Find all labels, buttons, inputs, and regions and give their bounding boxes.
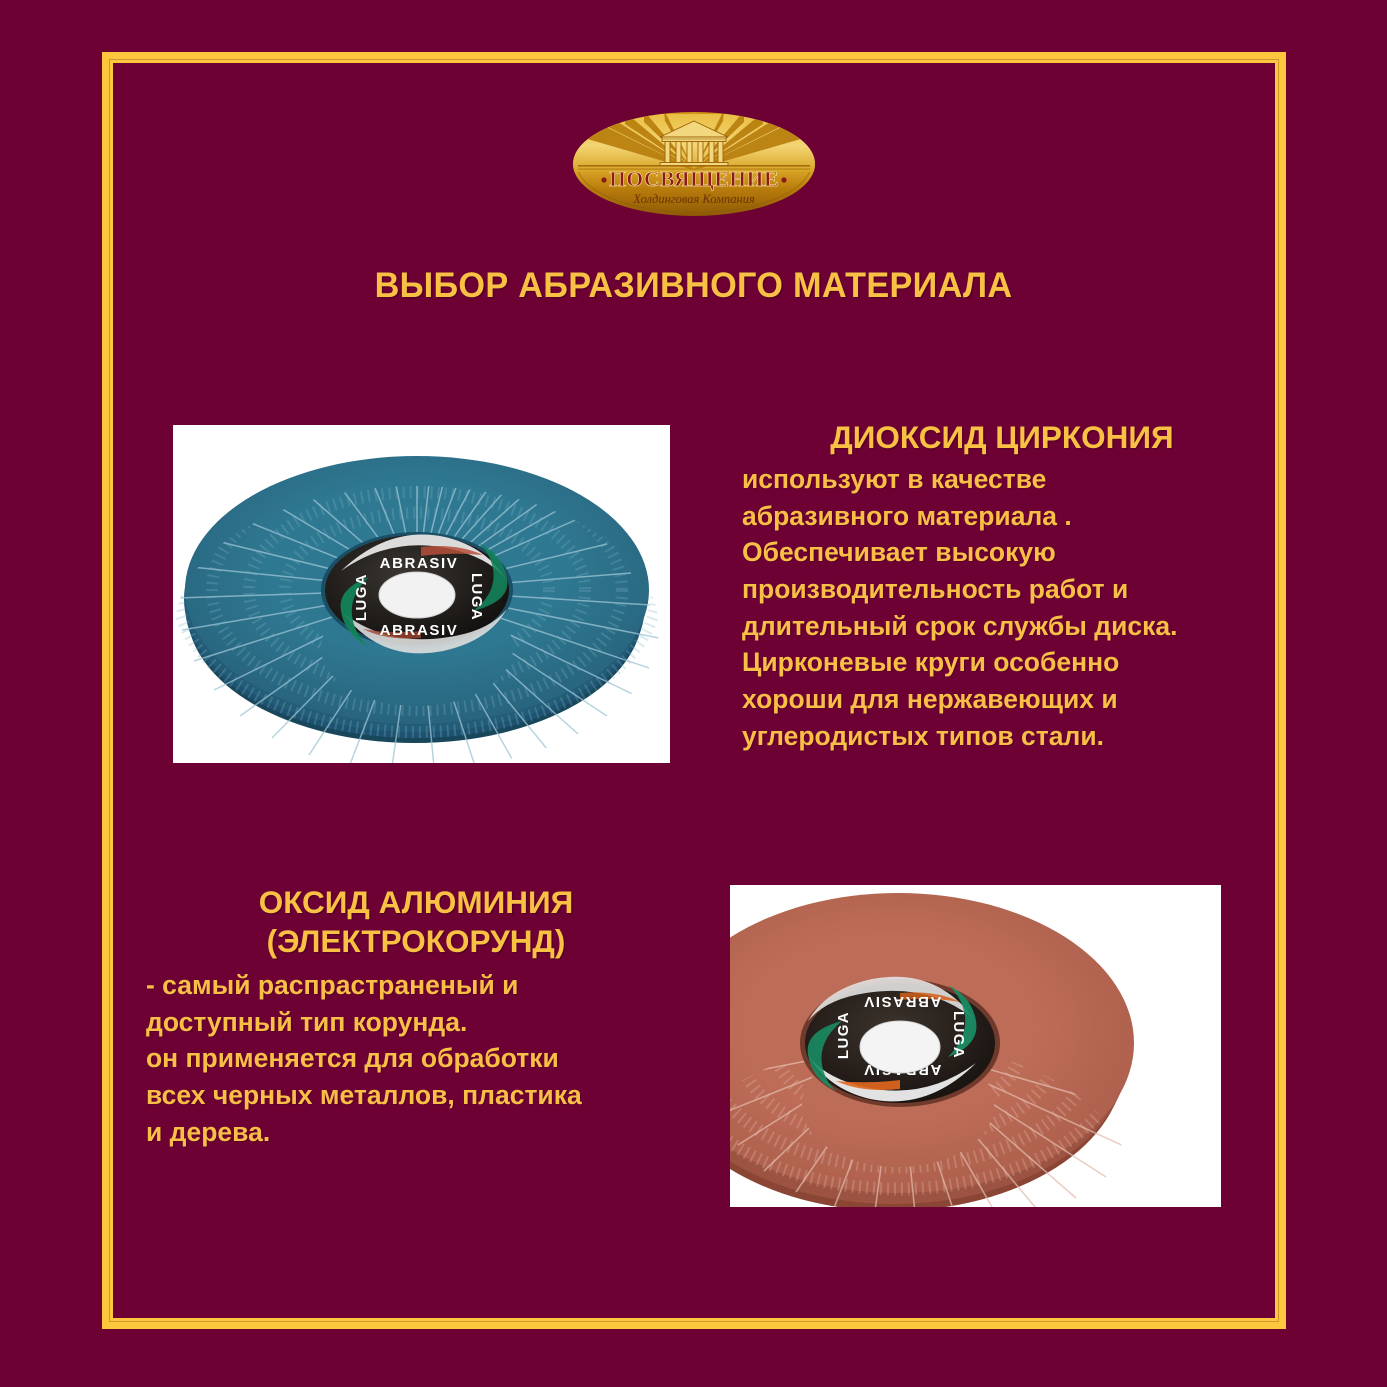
body-line: - самый распрастраненый и	[146, 967, 686, 1004]
corundum-body: - самый распрастраненый и доступный тип …	[146, 967, 686, 1150]
logo-brand-name: ПОСВЯЩЕНИЕ	[609, 167, 779, 191]
zirconia-heading: ДИОКСИД ЦИРКОНИЯ	[742, 418, 1262, 457]
body-line: используют в качестве	[742, 461, 1262, 498]
body-line: всех черных металлов, пластика	[146, 1077, 686, 1114]
disc-label-abrasiv-bottom: ABRASIV	[380, 622, 459, 639]
body-line: Обеспечивает высокую	[742, 534, 1262, 571]
aluminium-oxide-flap-disc-photo: ABRASIV ABRASIV LUGA LUGA	[730, 885, 1221, 1207]
corundum-heading-line-2: (ЭЛЕКТРОКОРУНД)	[146, 922, 686, 961]
body-line: абразивного материала .	[742, 498, 1262, 535]
disc-label-luga-left: LUGA	[353, 573, 370, 621]
sunburst-temple-oval-emblem-icon: ПОСВЯЩЕНИЕ Холдинговая Компания	[570, 108, 818, 220]
corundum-heading-line-1: ОКСИД АЛЮМИНИЯ	[146, 883, 686, 922]
zirconia-body: используют в качестве абразивного матери…	[742, 461, 1262, 755]
body-line: длительный срок службы диска.	[742, 608, 1262, 645]
corundum-disc-illustration: ABRASIV ABRASIV LUGA LUGA	[730, 885, 1221, 1207]
body-line: производительность работ и	[742, 571, 1262, 608]
disc-label-luga-left: LUGA	[950, 1011, 967, 1059]
page-title: ВЫБОР АБРАЗИВНОГО МАТЕРИАЛА	[24, 266, 1362, 305]
corundum-text-block: ОКСИД АЛЮМИНИЯ (ЭЛЕКТРОКОРУНД) - самый р…	[146, 883, 686, 1151]
body-line: и дерева.	[146, 1114, 686, 1151]
zirconia-flap-disc-photo: ABRASIV ABRASIV LUGA LUGA	[173, 425, 670, 763]
disc-label-luga-right: LUGA	[835, 1011, 852, 1059]
logo-tagline: Холдинговая Компания	[632, 192, 755, 206]
disc-label-abrasiv-top: ABRASIV	[380, 555, 459, 572]
body-line: углеродистых типов стали.	[742, 718, 1262, 755]
body-line: он применяется для обработки	[146, 1040, 686, 1077]
zirconia-disc-illustration: ABRASIV ABRASIV LUGA LUGA	[173, 425, 670, 763]
slide-canvas: ПОСВЯЩЕНИЕ Холдинговая Компания ВЫБОР АБ…	[0, 0, 1387, 1387]
disc-label-luga-right: LUGA	[468, 573, 485, 621]
disc-label-abrasiv-bottom: ABRASIV	[863, 993, 942, 1010]
company-logo: ПОСВЯЩЕНИЕ Холдинговая Компания	[570, 108, 818, 220]
body-line: хороши для нержавеющих и	[742, 681, 1262, 718]
body-line: доступный тип корунда.	[146, 1004, 686, 1041]
zirconia-text-block: ДИОКСИД ЦИРКОНИЯ используют в качестве а…	[742, 418, 1262, 755]
body-line: Цирконевые круги особенно	[742, 644, 1262, 681]
